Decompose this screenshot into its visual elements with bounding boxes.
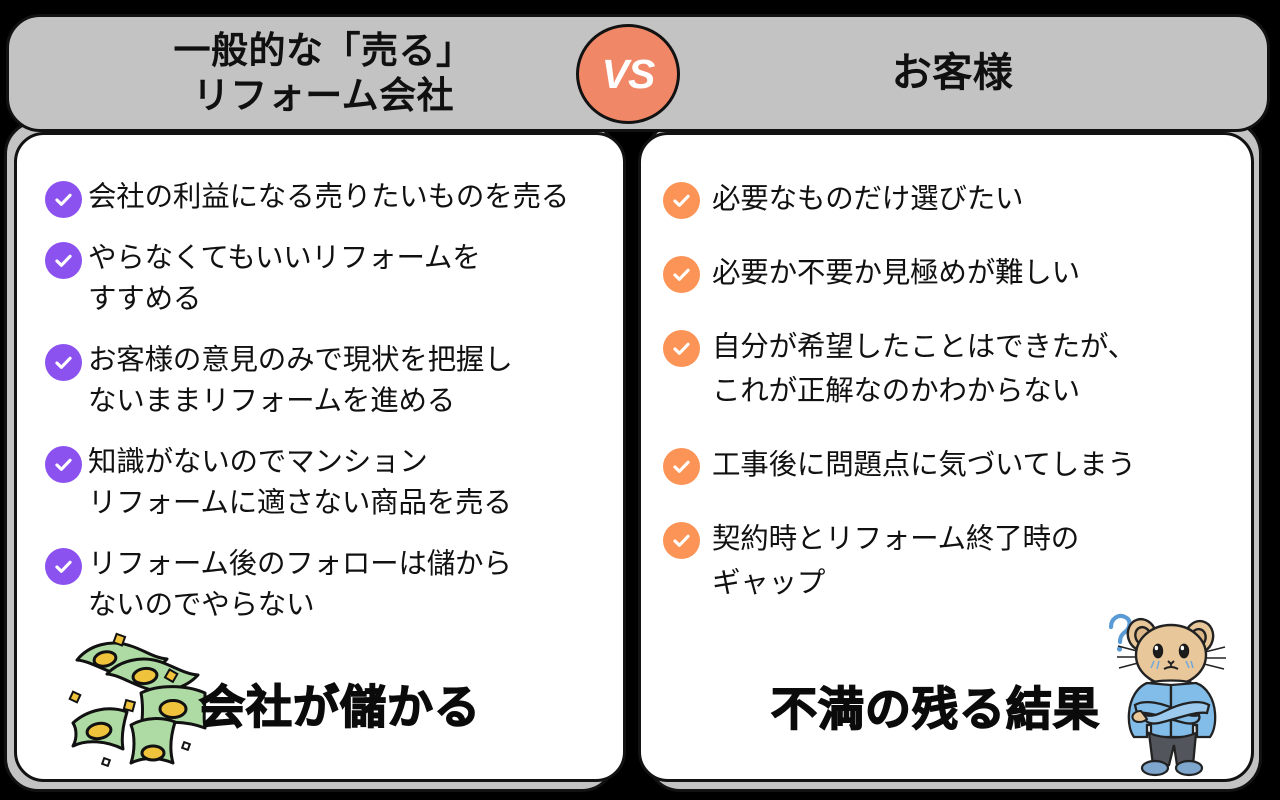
check-circle-icon (663, 182, 700, 219)
list-item-text: 自分が希望したことはできたが、 これが正解なのかわからない (712, 325, 1136, 413)
header-right-section: お客様 (638, 17, 1267, 129)
left-panel-footer-text: 会社が儲かる (199, 671, 481, 737)
list-item-text: お客様の意見のみで現状を把握し ないままリフォームを進める (88, 340, 513, 422)
right-panel: 必要なものだけ選びたい 必要か不要か見極めが難しい 自分が希望したことはできたが… (638, 132, 1254, 782)
right-panel-footer-text: 不満の残る結果 (771, 673, 1100, 739)
list-item: 工事後に問題点に気づいてしまう (663, 443, 1251, 487)
header-left-section: 一般的な「売る」 リフォーム会社 (9, 17, 638, 129)
list-item: 知識がないのでマンション リフォームに適さない商品を売る (45, 442, 623, 524)
vs-badge: VS (576, 24, 680, 124)
check-circle-icon (45, 181, 82, 218)
list-item: やらなくてもいいリフォームを すすめる (45, 238, 623, 320)
list-item-text: 契約時とリフォーム終了時の ギャップ (712, 517, 1079, 605)
check-circle-icon (663, 448, 700, 485)
list-item-text: やらなくてもいいリフォームを すすめる (88, 238, 481, 320)
right-panel-list: 必要なものだけ選びたい 必要か不要か見極めが難しい 自分が希望したことはできたが… (641, 135, 1251, 635)
list-item: 必要か不要か見極めが難しい (663, 251, 1251, 295)
check-circle-icon (663, 522, 700, 559)
list-item: 自分が希望したことはできたが、 これが正解なのかわからない (663, 325, 1251, 413)
check-circle-icon (45, 446, 82, 483)
list-item-text: 必要か不要か見極めが難しい (712, 251, 1080, 295)
left-panel-list: 会社の利益になる売りたいものを売る やらなくてもいいリフォームを すすめる お客… (17, 135, 623, 646)
header-left-title: 一般的な「売る」 リフォーム会社 (174, 28, 474, 118)
list-item-text: 会社の利益になる売りたいものを売る (88, 177, 569, 218)
list-item: 会社の利益になる売りたいものを売る (45, 177, 623, 218)
header-right-title: お客様 (892, 49, 1014, 98)
list-item-text: 工事後に問題点に気づいてしまう (712, 443, 1136, 487)
comparison-infographic: 会社の利益になる売りたいものを売る やらなくてもいいリフォームを すすめる お客… (0, 0, 1280, 800)
left-panel: 会社の利益になる売りたいものを売る やらなくてもいいリフォームを すすめる お客… (14, 132, 626, 782)
list-item: お客様の意見のみで現状を把握し ないままリフォームを進める (45, 340, 623, 422)
confused-hamster-icon (1101, 607, 1243, 779)
list-item-text: 知識がないのでマンション リフォームに適さない商品を売る (88, 442, 512, 524)
right-panel-footer: 不満の残る結果 (641, 614, 1251, 779)
list-item: 必要なものだけ選びたい (663, 177, 1251, 221)
list-item: 契約時とリフォーム終了時の ギャップ (663, 517, 1251, 605)
vs-badge-label: VS (602, 51, 655, 98)
check-circle-icon (663, 330, 700, 367)
left-panel-footer: 会社が儲かる (17, 614, 623, 779)
list-item-text: 必要なものだけ選びたい (712, 177, 1023, 221)
check-circle-icon (45, 344, 82, 381)
check-circle-icon (663, 256, 700, 293)
check-circle-icon (45, 548, 82, 585)
check-circle-icon (45, 242, 82, 279)
